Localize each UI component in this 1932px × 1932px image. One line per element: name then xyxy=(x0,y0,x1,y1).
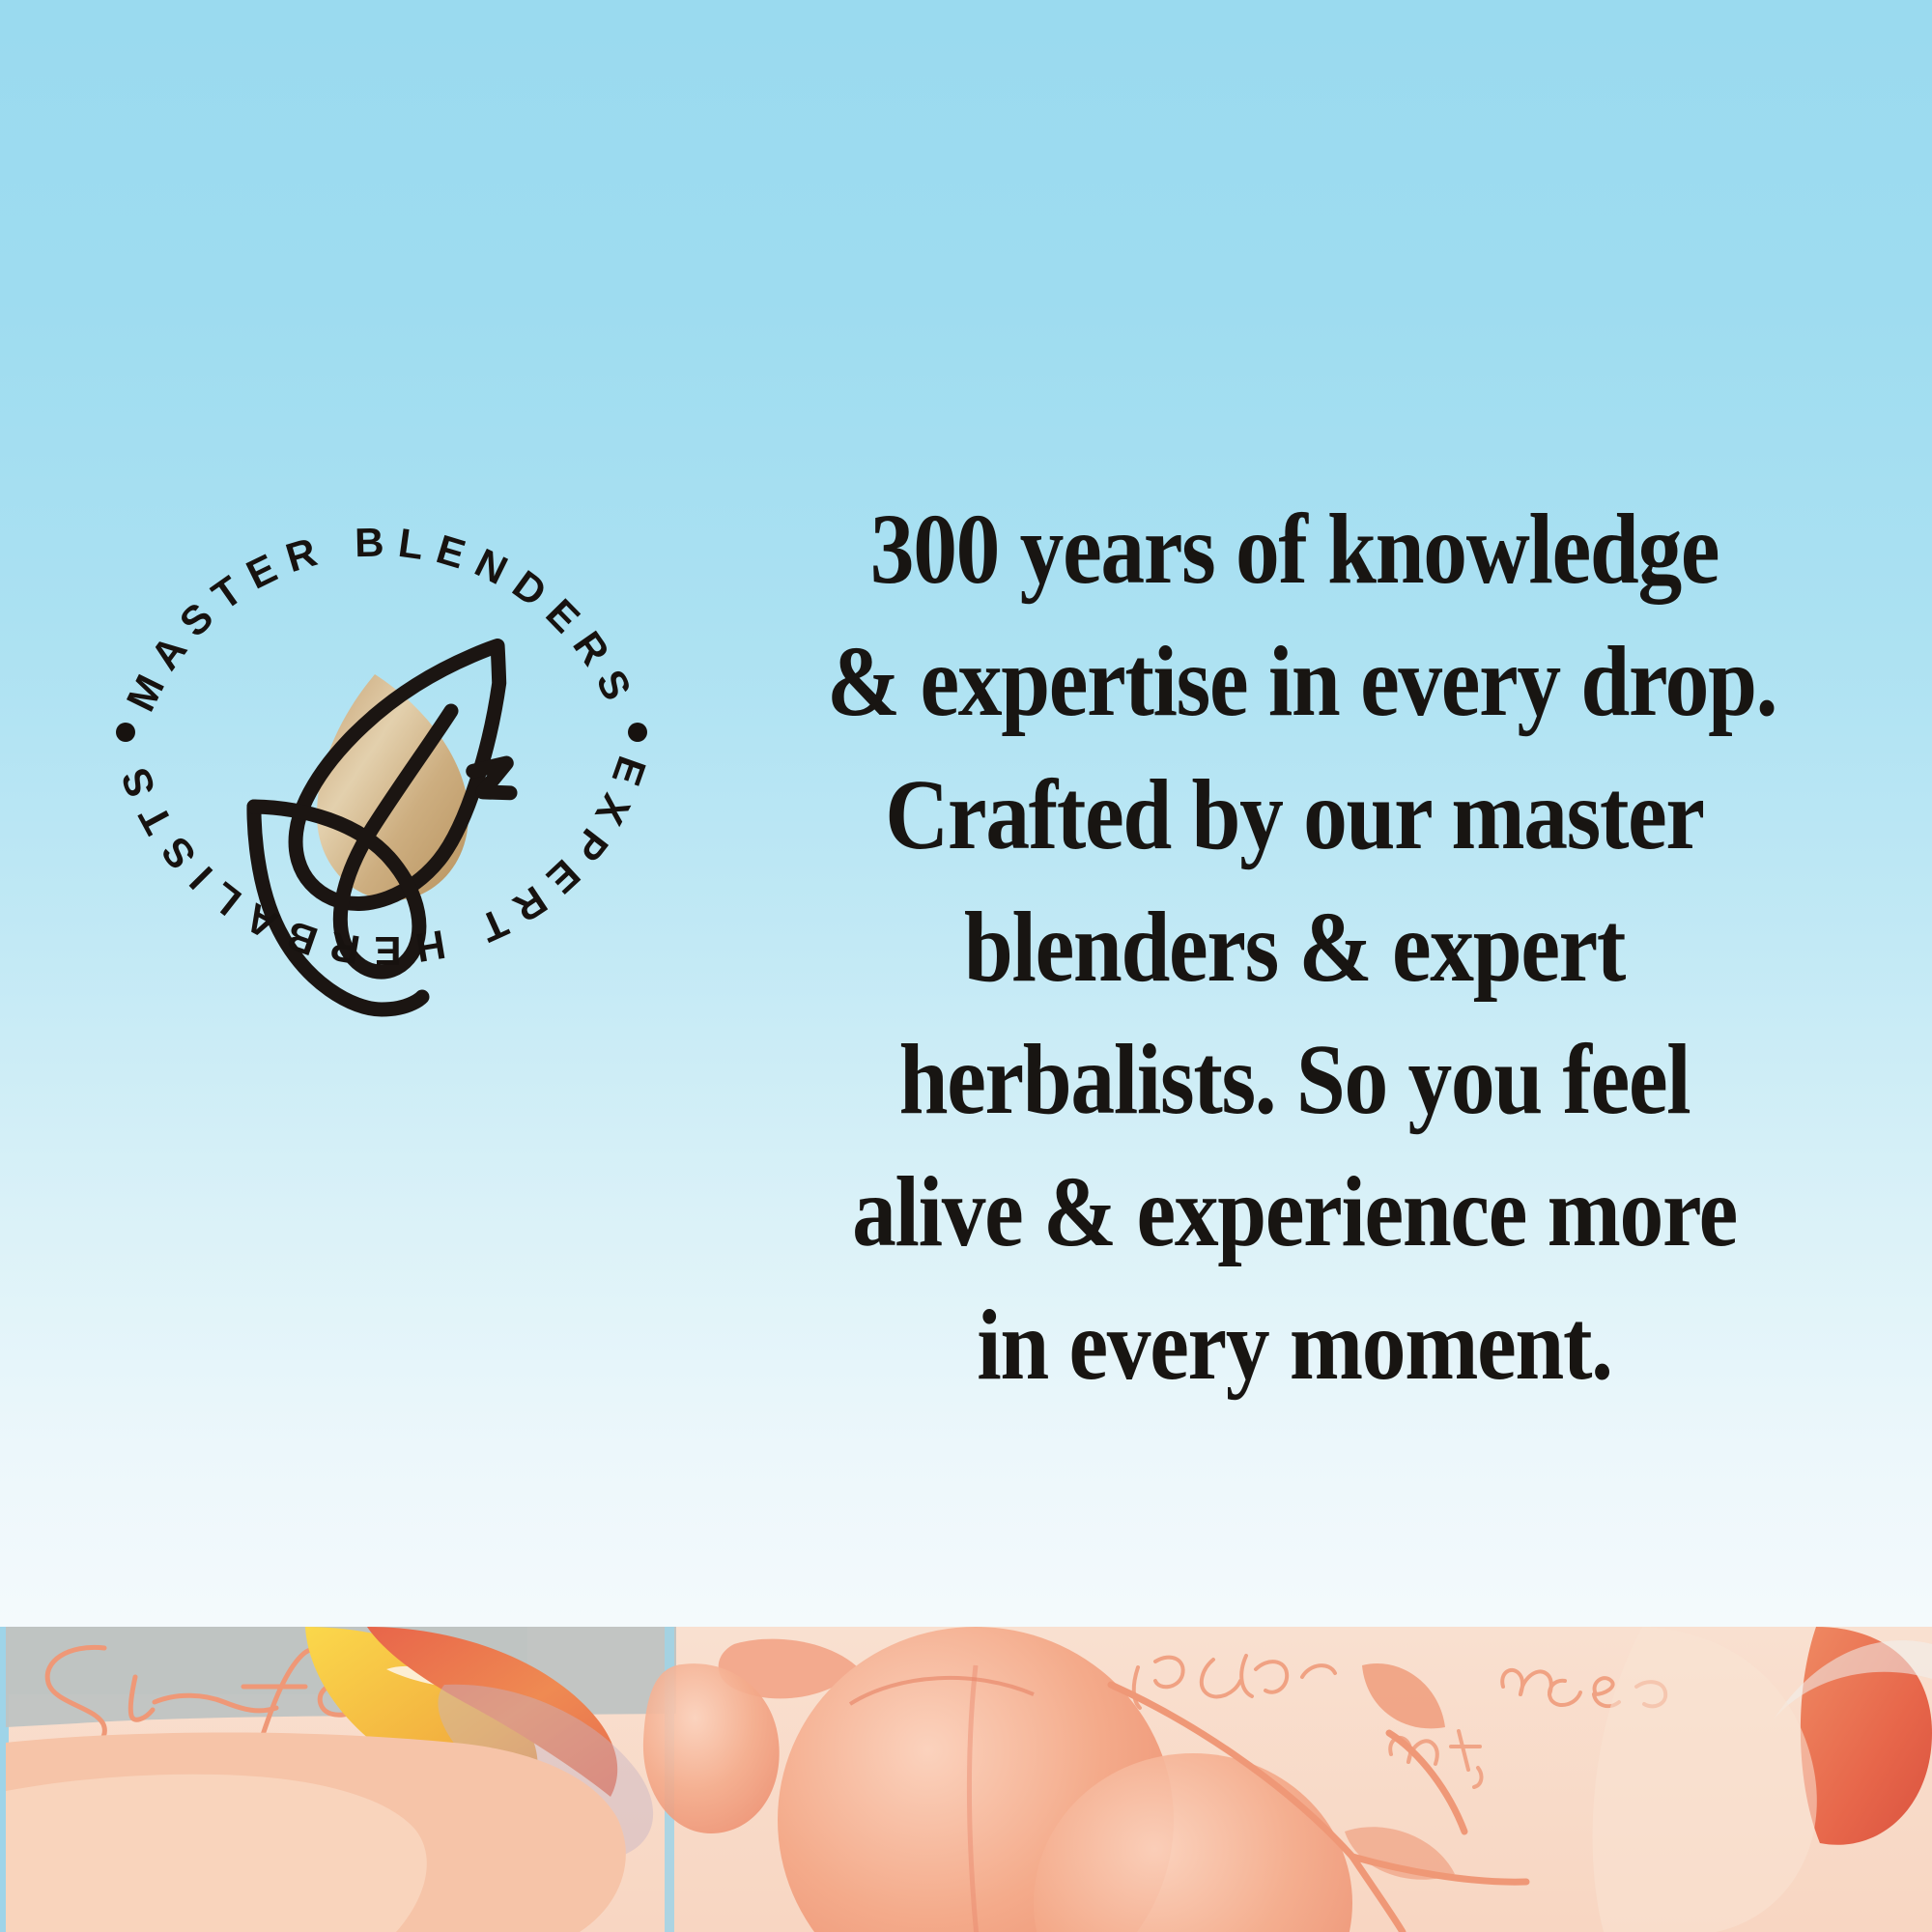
peach-foreground-highlight xyxy=(6,1775,427,1932)
seal-dot-right-icon xyxy=(628,723,647,742)
master-blenders-seal: MASTER BLENDERS EXPERT HERBALISTS xyxy=(82,425,681,1024)
headline-line: herbalists. So you feel xyxy=(827,1013,1762,1146)
headline-line: Crafted by our master xyxy=(827,749,1762,881)
headline-line: alive & experience more xyxy=(827,1146,1762,1278)
apricot-illustration-strip xyxy=(0,1627,1932,1932)
headline-line: in every moment. xyxy=(827,1279,1762,1411)
headline-copy: 300 years of knowledge & expertise in ev… xyxy=(827,483,1762,1411)
seal-dot-left-icon xyxy=(116,723,135,742)
headline-line: & expertise in every drop. xyxy=(827,615,1762,748)
promo-panel: MASTER BLENDERS EXPERT HERBALISTS 300 ye… xyxy=(0,0,1932,1932)
headline-line: blenders & expert xyxy=(827,881,1762,1013)
headline-line: 300 years of knowledge xyxy=(827,483,1762,615)
